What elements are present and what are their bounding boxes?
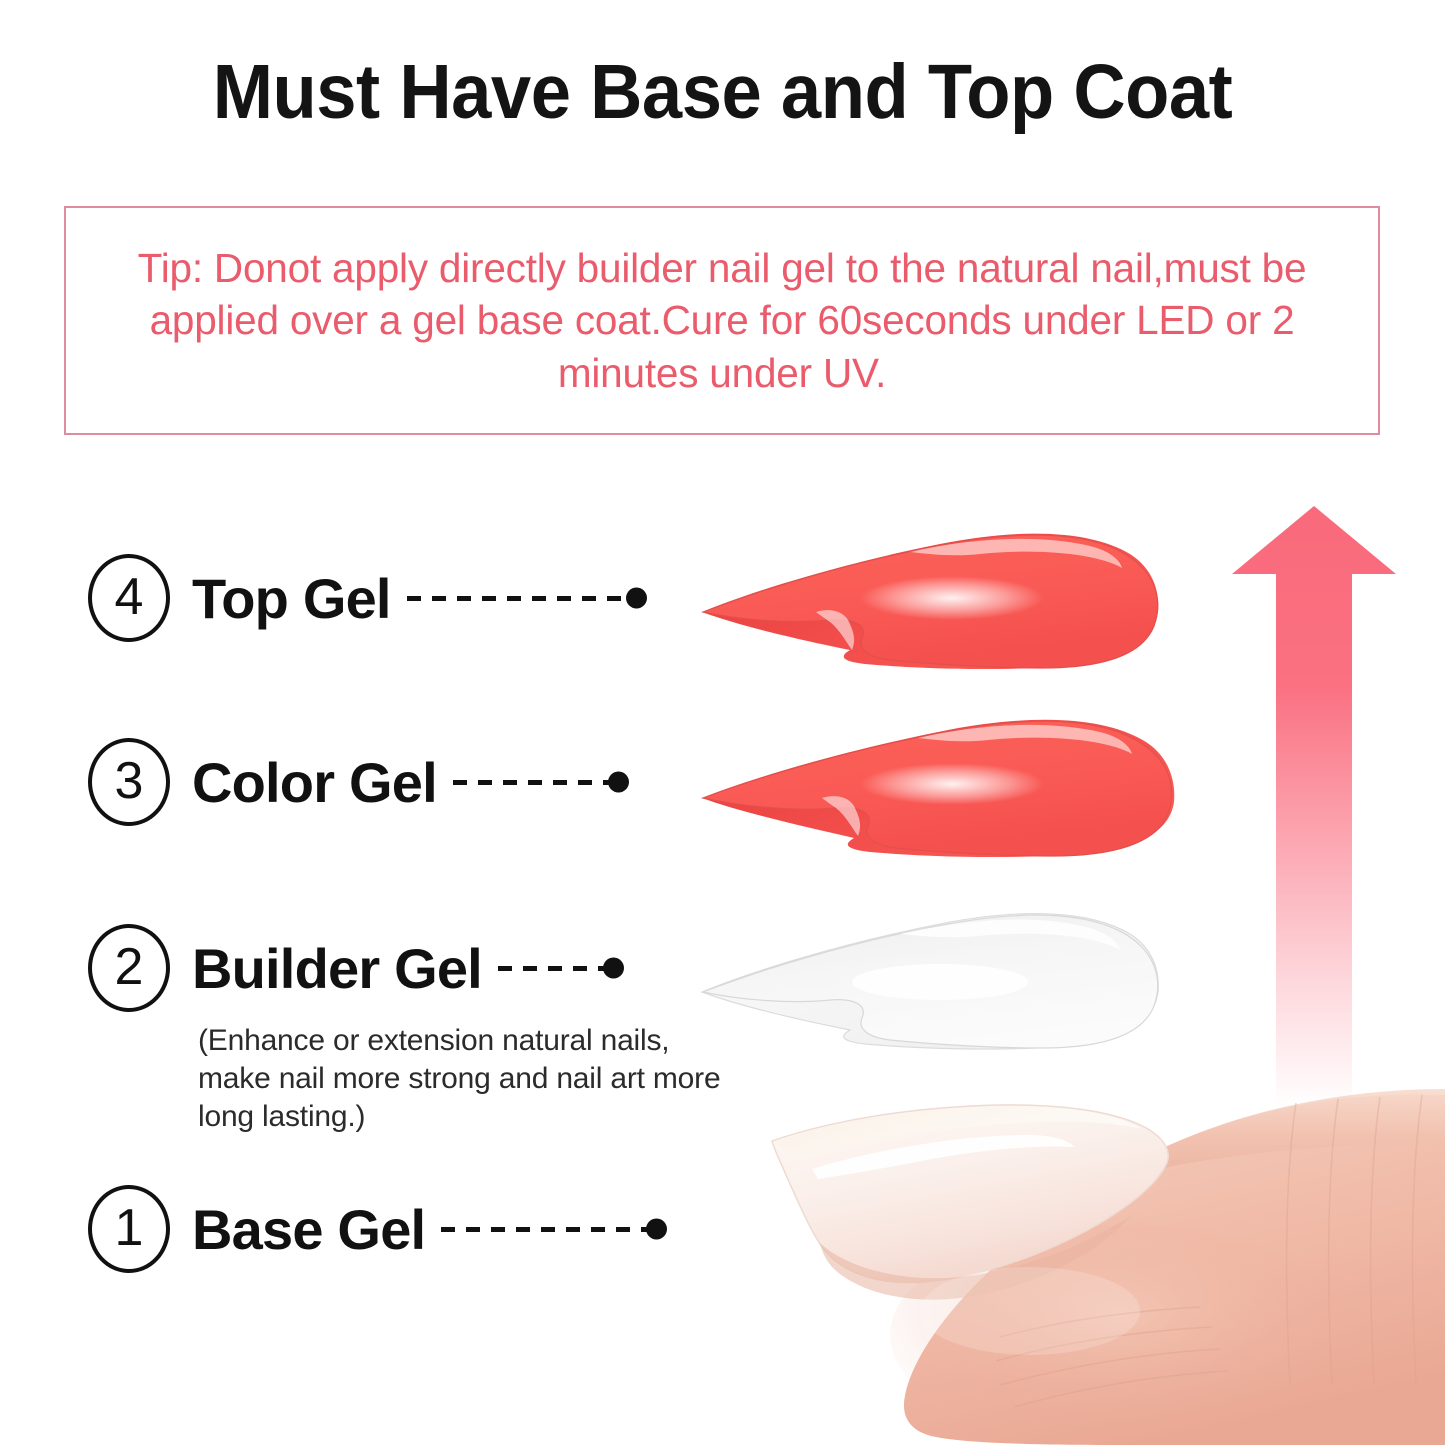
step-note-builder-gel: (Enhance or extension natural nails, mak… [198, 1022, 743, 1136]
infographic-page: Must Have Base and Top Coat Tip: Donot a… [0, 0, 1445, 1445]
step-number-circle: 4 [88, 554, 170, 642]
red-gel-nail-icon [690, 508, 1170, 698]
step-number-circle: 3 [88, 738, 170, 826]
dashed-line [441, 1227, 659, 1232]
upward-arrow-icon [1224, 502, 1404, 1112]
dashed-line [453, 780, 621, 785]
leader-dot [626, 588, 647, 609]
tip-callout-box: Tip: Donot apply directly builder nail g… [64, 206, 1380, 435]
step-number-circle: 2 [88, 924, 170, 1012]
step-number-circle: 1 [88, 1185, 170, 1273]
clear-gel-nail-icon [690, 888, 1170, 1078]
step-base-gel[interactable]: 1 Base Gel [88, 1183, 659, 1275]
leader-line-builder-gel [498, 966, 616, 971]
step-number: 2 [115, 941, 144, 993]
step-number: 1 [115, 1202, 144, 1254]
swatch-top-gel [690, 508, 1170, 698]
swatch-color-gel [690, 698, 1180, 883]
step-color-gel[interactable]: 3 Color Gel [88, 736, 621, 828]
step-label-top-gel: Top Gel [192, 566, 391, 631]
step-top-gel[interactable]: 4 Top Gel [88, 552, 639, 644]
leader-line-top-gel [407, 596, 639, 601]
fingertip-photo [700, 1085, 1445, 1445]
step-label-color-gel: Color Gel [192, 750, 437, 815]
page-title: Must Have Base and Top Coat [43, 54, 1401, 131]
leader-line-color-gel [453, 780, 621, 785]
step-builder-gel[interactable]: 2 Builder Gel (Enhance or extension natu… [88, 922, 743, 1136]
leader-line-base-gel [441, 1227, 659, 1232]
swatch-builder-gel [690, 888, 1170, 1078]
step-label-builder-gel: Builder Gel [192, 936, 482, 1001]
leader-dot [646, 1219, 667, 1240]
step-number: 3 [115, 755, 144, 807]
leader-dot [608, 772, 629, 793]
dashed-line [498, 966, 616, 971]
leader-dot [603, 958, 624, 979]
red-gel-nail-icon [690, 698, 1180, 883]
tip-text: Tip: Donot apply directly builder nail g… [115, 242, 1330, 400]
step-number: 4 [115, 571, 144, 623]
step-label-base-gel: Base Gel [192, 1197, 425, 1262]
dashed-line [407, 596, 639, 601]
